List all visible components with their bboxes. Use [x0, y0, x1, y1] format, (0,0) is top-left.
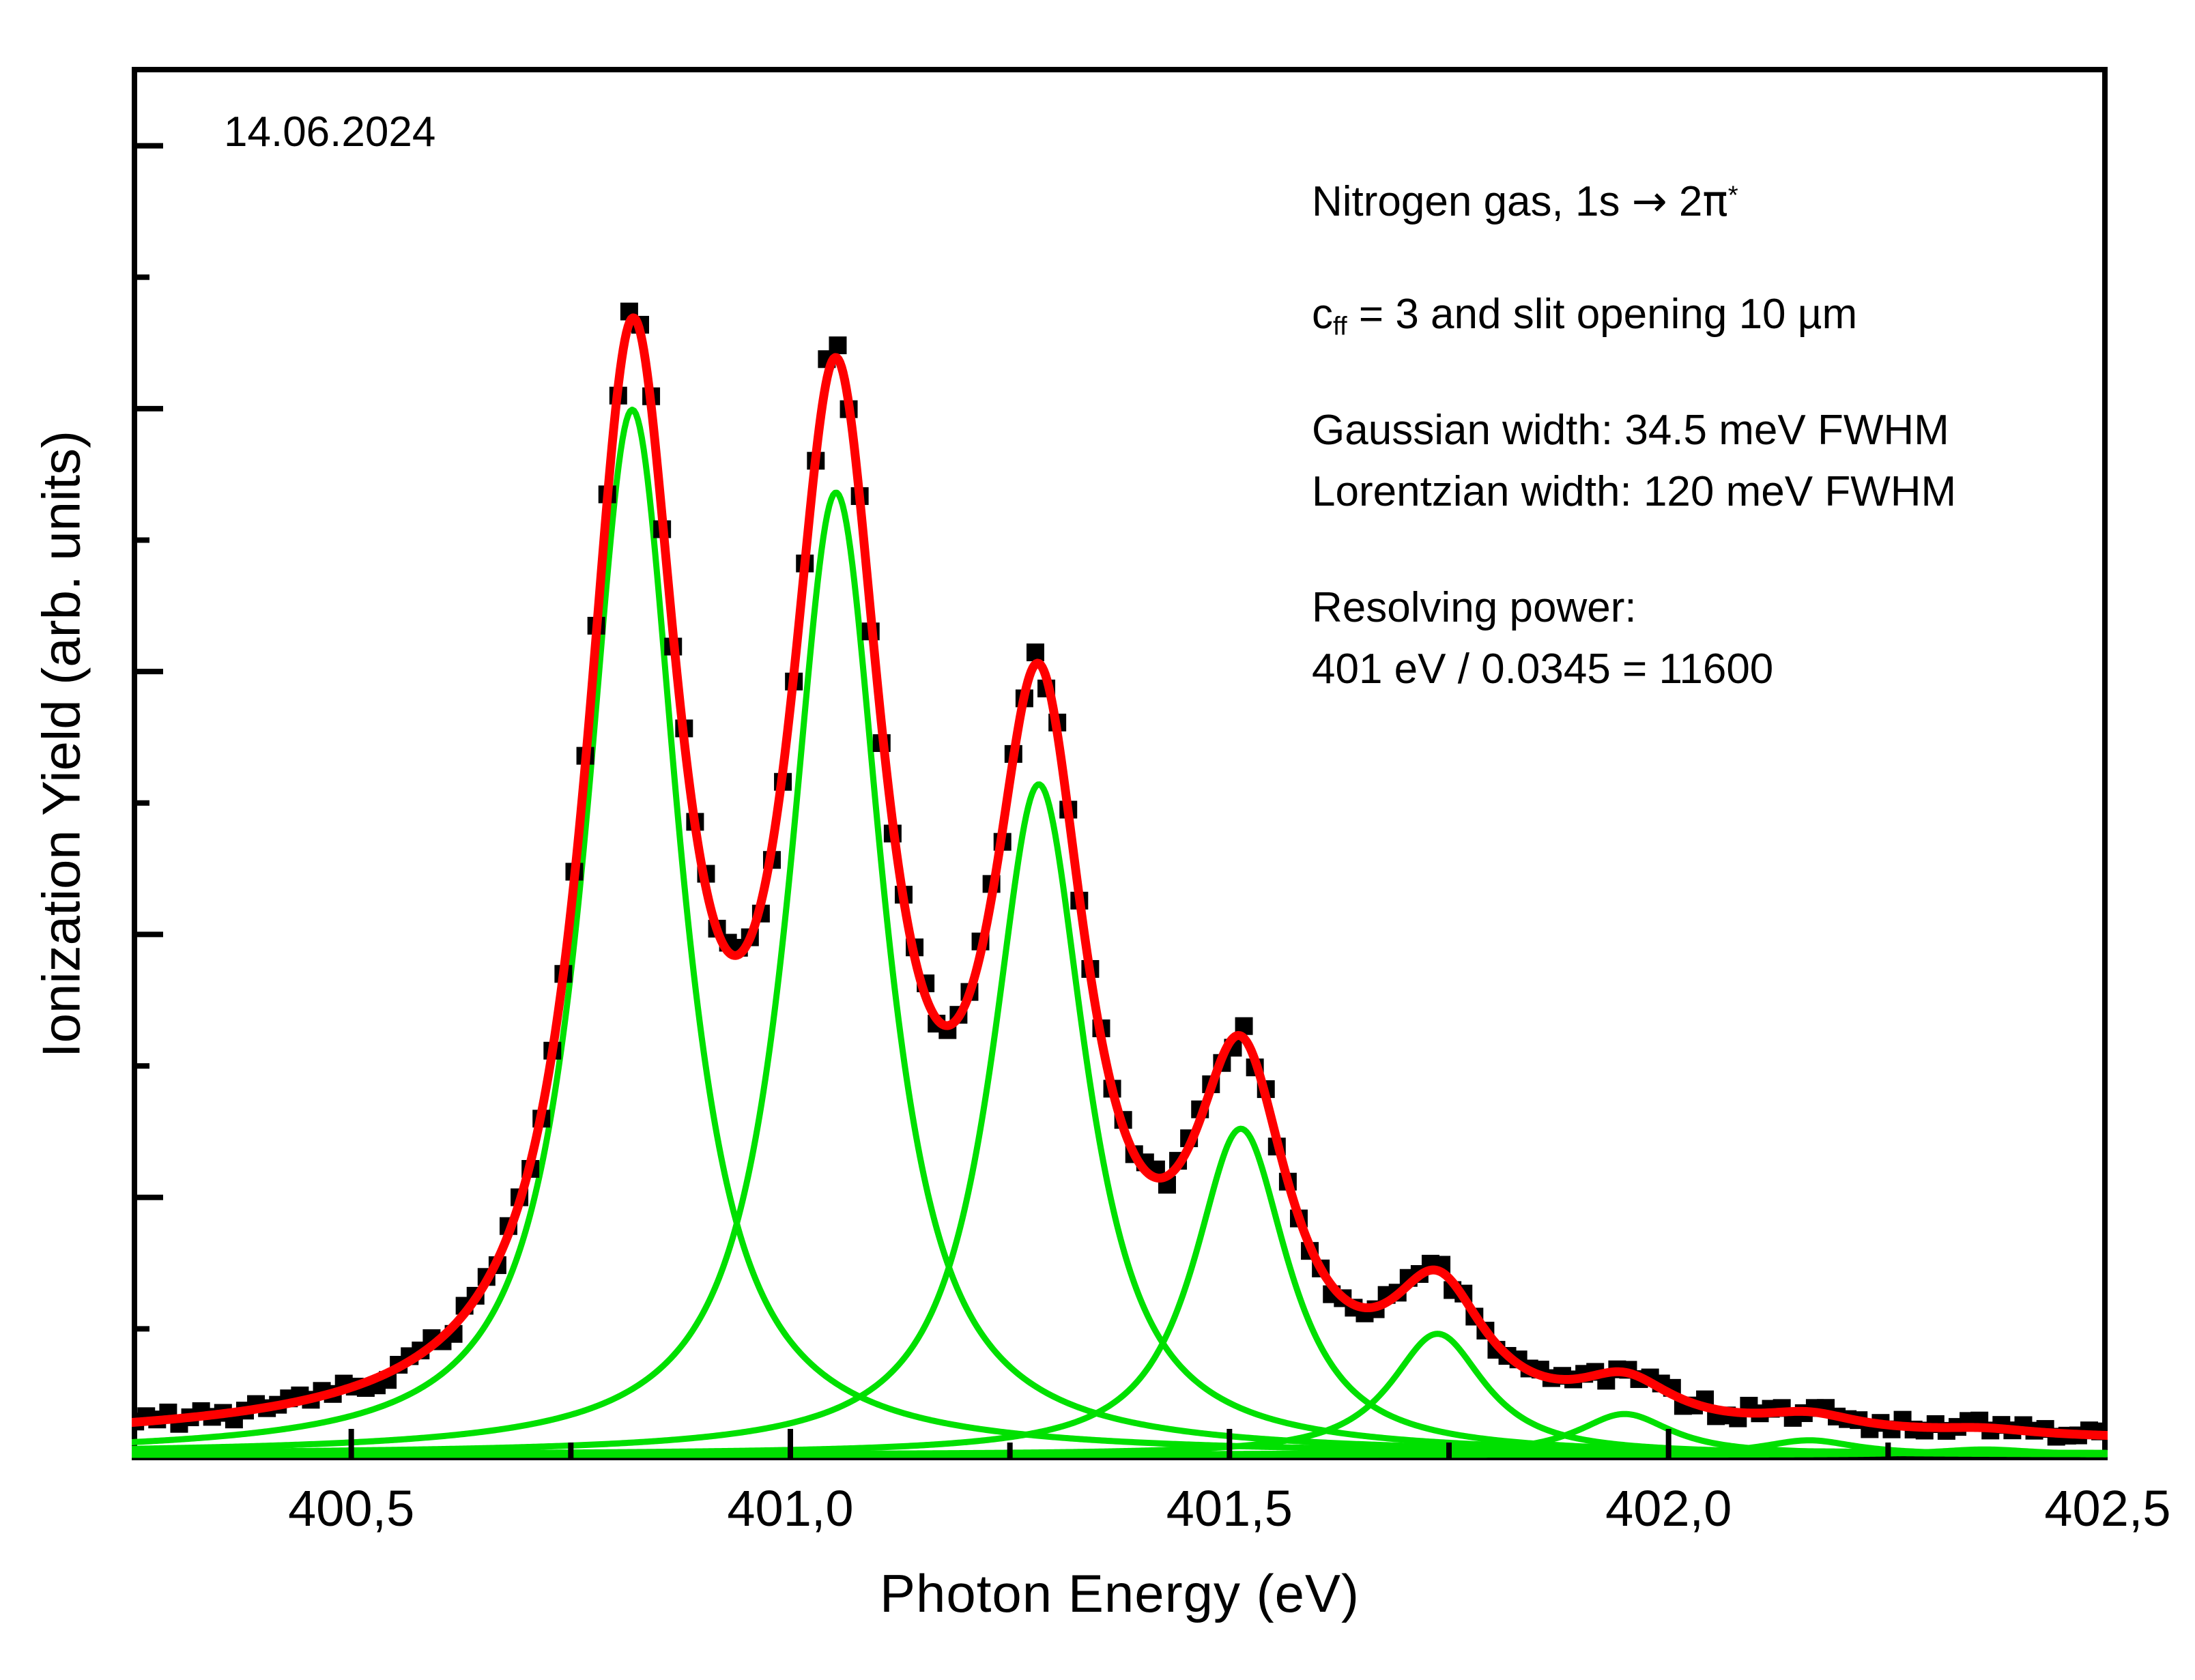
- cff-symbol: c: [1312, 291, 1333, 338]
- component-curves: [132, 409, 2106, 1454]
- x-tick-label: 402,0: [1566, 1479, 1771, 1537]
- x-tick-label: 401,5: [1127, 1479, 1332, 1537]
- spectrum-plot: [132, 67, 2108, 1460]
- figure-canvas: 400,5401,0401,5402,0402,5 Photon Energy …: [0, 0, 2195, 1680]
- annotation-sample-post: 2: [1667, 178, 1703, 225]
- component-curve: [132, 409, 2106, 1453]
- annotation-gaussian-width: Gaussian width: 34.5 meV FWHM: [1312, 409, 1949, 452]
- star-symbol: *: [1728, 181, 1738, 210]
- x-tick-label: 402,5: [2005, 1479, 2195, 1537]
- annotation-sample-pre: Nitrogen gas, 1s: [1312, 178, 1632, 225]
- cff-rest: = 3 and slit opening 10 µm: [1347, 291, 1857, 338]
- cff-subscript: ff: [1333, 312, 1347, 341]
- y-axis-title: Ionization Yield (arb. units): [31, 96, 93, 1393]
- annotation-cff: cff = 3 and slit opening 10 µm: [1312, 293, 1857, 340]
- data-point: [1027, 643, 1044, 661]
- data-point: [829, 336, 846, 354]
- pi-symbol: π: [1702, 176, 1727, 226]
- x-tick-label: 400,5: [249, 1479, 454, 1537]
- annotation-sample: Nitrogen gas, 1s → 2π*: [1312, 180, 1738, 223]
- annotation-lorentzian-width: Lorentzian width: 120 meV FWHM: [1312, 471, 1956, 513]
- x-tick-label: 401,0: [688, 1479, 893, 1537]
- arrow-icon: →: [1632, 176, 1667, 226]
- annotation-resolving-power-label: Resolving power:: [1312, 587, 1637, 629]
- component-curve: [132, 493, 2106, 1453]
- x-axis-title: Photon Energy (eV): [132, 1563, 2108, 1625]
- date-annotation: 14.06.2024: [224, 108, 435, 156]
- annotation-resolving-power-value: 401 eV / 0.0345 = 11600: [1312, 648, 1773, 691]
